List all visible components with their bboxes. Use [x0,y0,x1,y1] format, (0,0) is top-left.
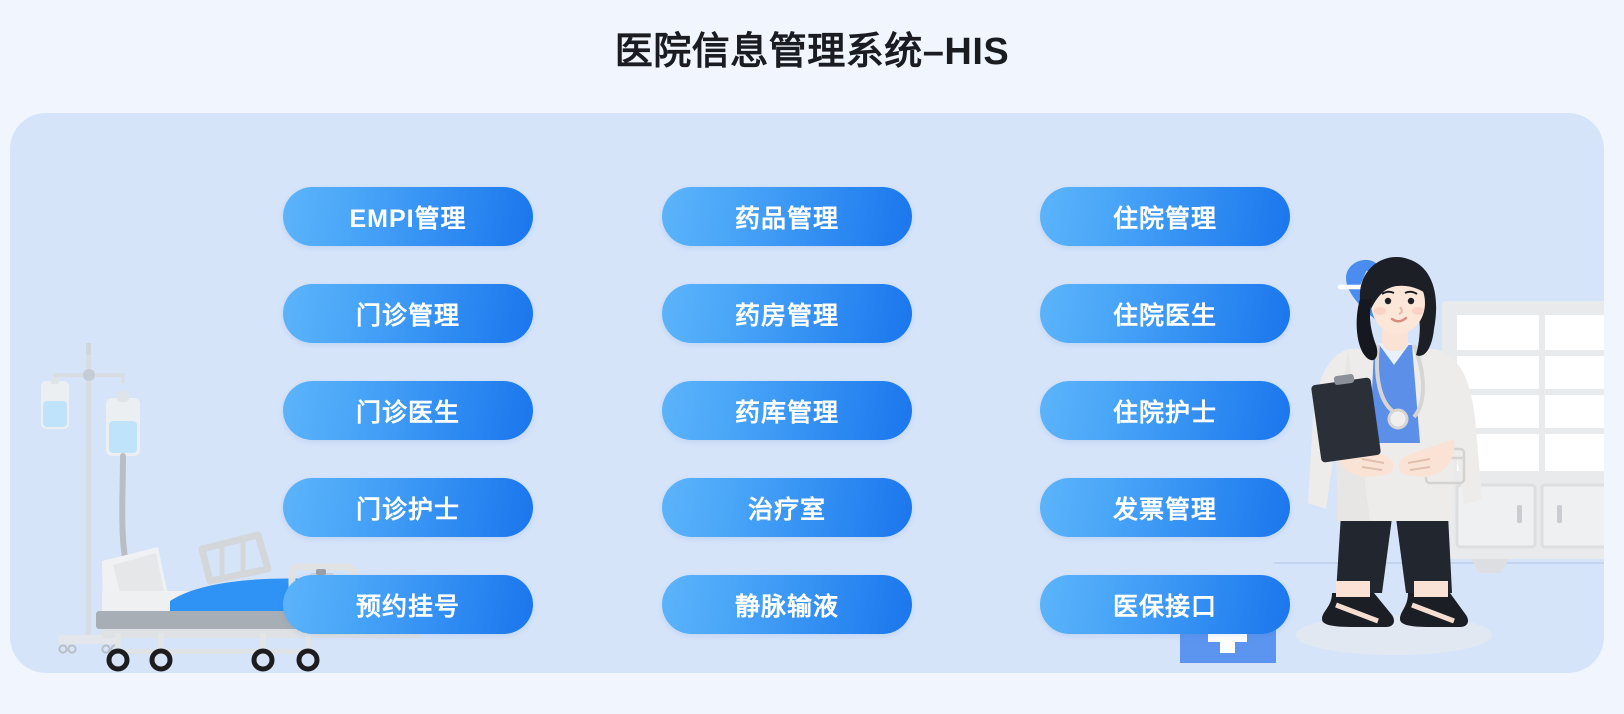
menu-button-treatment-room[interactable]: 治疗室 [662,478,912,537]
column-outpatient: EMPI管理 门诊管理 门诊医生 门诊护士 预约挂号 [283,187,533,634]
menu-button-invoice-management[interactable]: 发票管理 [1040,478,1290,537]
menu-button-drug-management[interactable]: 药品管理 [662,187,912,246]
menu-button-inpatient-management[interactable]: 住院管理 [1040,187,1290,246]
column-pharmacy: 药品管理 药房管理 药库管理 治疗室 静脉输液 [662,187,912,634]
menu-button-medical-insurance-interface[interactable]: 医保接口 [1040,575,1290,634]
main-panel: EMPI管理 门诊管理 门诊医生 门诊护士 预约挂号 药品管理 药房管理 药库管… [10,113,1604,673]
menu-button-inpatient-nurse[interactable]: 住院护士 [1040,381,1290,440]
menu-button-intravenous-infusion[interactable]: 静脉输液 [662,575,912,634]
menu-button-outpatient-nurse[interactable]: 门诊护士 [283,478,533,537]
menu-button-appointment-registration[interactable]: 预约挂号 [283,575,533,634]
menu-button-outpatient-doctor[interactable]: 门诊医生 [283,381,533,440]
menu-button-empi-management[interactable]: EMPI管理 [283,187,533,246]
menu-button-pharmacy-management[interactable]: 药房管理 [662,284,912,343]
column-inpatient: 住院管理 住院医生 住院护士 发票管理 医保接口 [1040,187,1290,634]
menu-button-drug-warehouse[interactable]: 药库管理 [662,381,912,440]
menu-button-inpatient-doctor[interactable]: 住院医生 [1040,284,1290,343]
page-title: 医院信息管理系统–HIS [0,30,1624,76]
module-button-grid: EMPI管理 门诊管理 门诊医生 门诊护士 预约挂号 药品管理 药房管理 药库管… [10,113,1604,673]
menu-button-outpatient-management[interactable]: 门诊管理 [283,284,533,343]
